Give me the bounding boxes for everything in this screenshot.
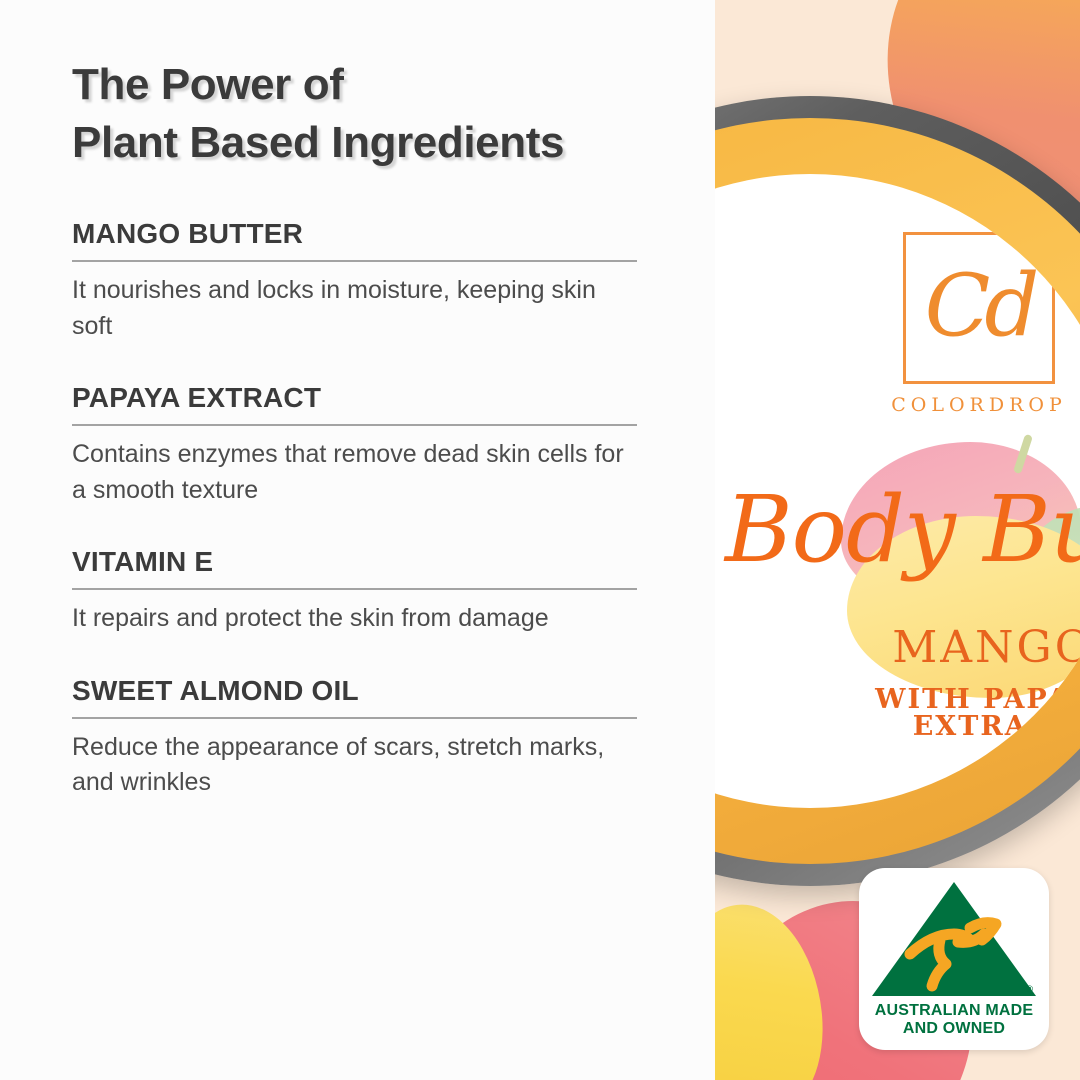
logo-square-frame: Cd (903, 232, 1055, 384)
registered-mark: ® (1026, 984, 1033, 994)
ingredient-divider (72, 588, 637, 590)
ingredient-name: VITAMIN E (72, 546, 675, 578)
page-title-line-2: Plant Based Ingredients (72, 114, 675, 172)
ingredient-list: MANGO BUTTER It nourishes and locks in m… (72, 218, 675, 801)
ingredients-panel: The Power of Plant Based Ingredients MAN… (0, 0, 715, 1080)
ingredient-description: It repairs and protect the skin from dam… (72, 601, 642, 637)
ingredient-name: MANGO BUTTER (72, 218, 675, 250)
badge-label: AUSTRALIAN MADE AND OWNED (859, 1002, 1049, 1038)
badge-label-line-1: AUSTRALIAN MADE (859, 1002, 1049, 1020)
badge-label-line-2: AND OWNED (859, 1020, 1049, 1038)
ingredient-item-papaya-extract: PAPAYA EXTRACT Contains enzymes that rem… (72, 382, 675, 508)
page-title-line-1: The Power of (72, 60, 343, 109)
page-title: The Power of Plant Based Ingredients (72, 56, 675, 172)
ingredient-divider (72, 424, 637, 426)
product-flavour: MANGO (823, 626, 1080, 670)
ingredient-item-vitamin-e: VITAMIN E It repairs and protect the ski… (72, 546, 675, 637)
ingredient-divider (72, 260, 637, 262)
product-flavour-subtitle: WITH PAPAYA EXTRACT (793, 686, 1080, 740)
kangaroo-triangle-icon (870, 880, 1038, 998)
ingredient-item-mango-butter: MANGO BUTTER It nourishes and locks in m… (72, 218, 675, 344)
logo-monogram: Cd (906, 263, 1052, 349)
ingredient-description: Reduce the appearance of scars, stretch … (72, 730, 642, 801)
ingredient-item-sweet-almond-oil: SWEET ALMOND OIL Reduce the appearance o… (72, 675, 675, 801)
ingredient-description: Contains enzymes that remove dead skin c… (72, 437, 642, 508)
infographic-canvas: The Power of Plant Based Ingredients MAN… (0, 0, 1080, 1080)
australian-made-badge: ® AUSTRALIAN MADE AND OWNED (859, 868, 1049, 1050)
logo-brand-name: COLORDROP (891, 394, 1067, 416)
jar-label-face: Cd COLORDROP Body Butter MANGO WITH PAPA… (715, 174, 1080, 808)
ingredient-divider (72, 717, 637, 719)
product-jar: Cd COLORDROP Body Butter MANGO WITH PAPA… (715, 96, 1080, 886)
ingredient-name: PAPAYA EXTRACT (72, 382, 675, 414)
brand-logo: Cd COLORDROP (891, 232, 1067, 416)
ingredient-name: SWEET ALMOND OIL (72, 675, 675, 707)
ingredient-description: It nourishes and locks in moisture, keep… (72, 273, 642, 344)
product-script-title: Body Butter (725, 484, 1080, 576)
product-photo: Cd COLORDROP Body Butter MANGO WITH PAPA… (715, 0, 1080, 1080)
